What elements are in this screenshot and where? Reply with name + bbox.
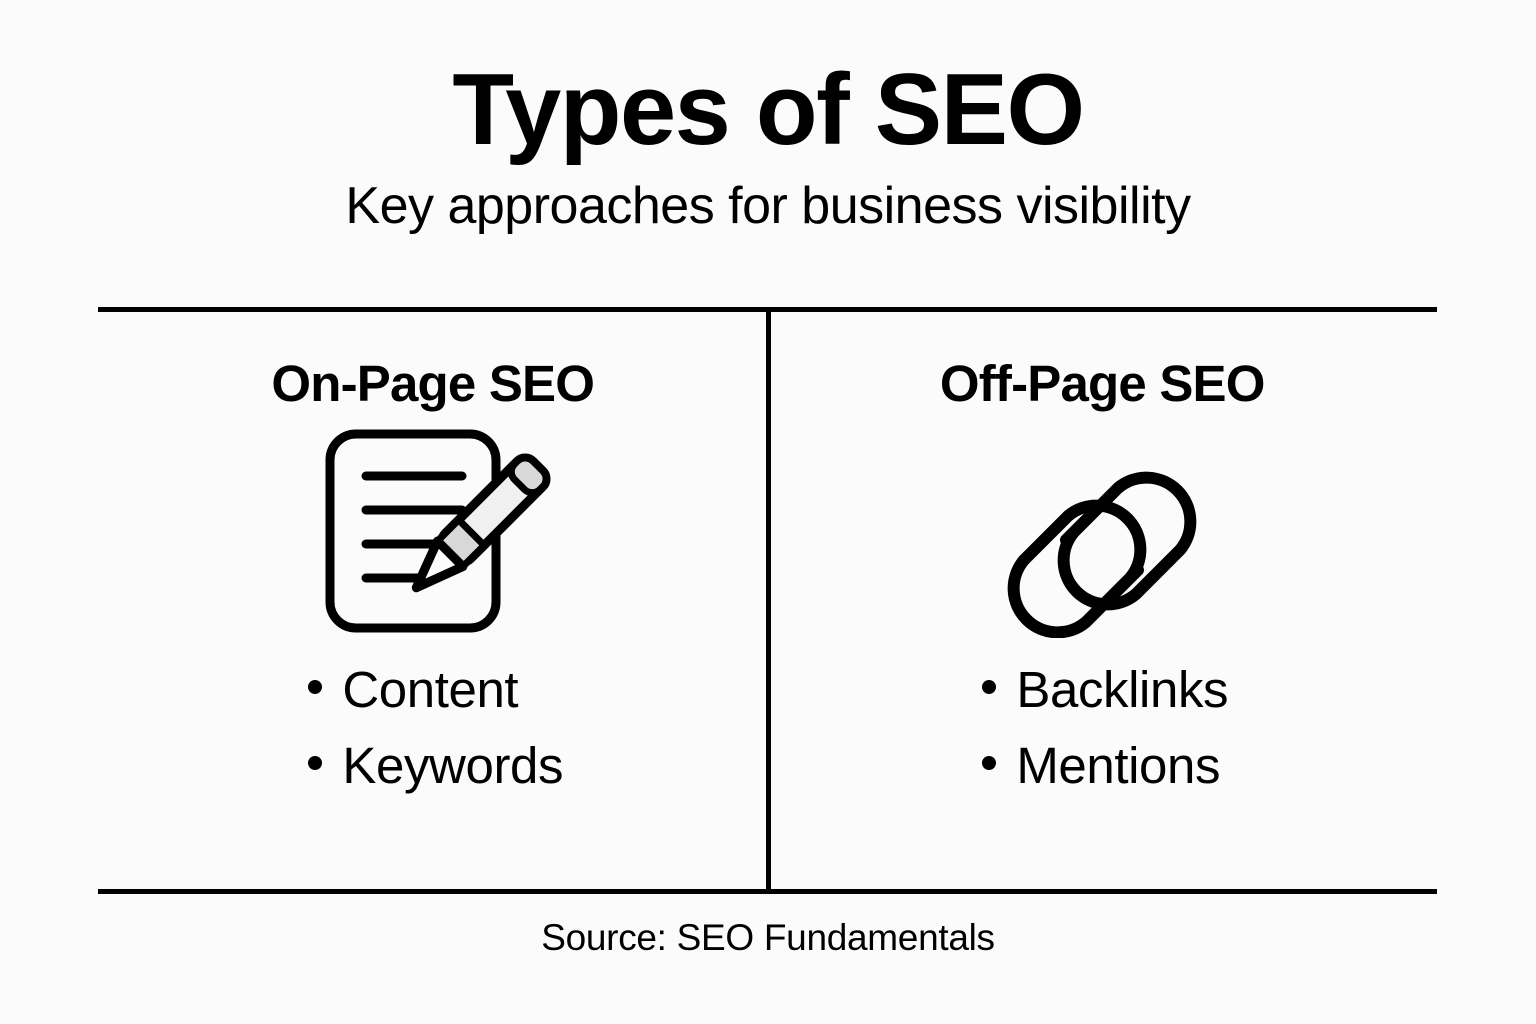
list-item-label: Content — [342, 652, 518, 727]
infographic-canvas: Types of SEO Key approaches for business… — [0, 0, 1536, 1024]
list-on-page-seo: Content Keywords — [302, 652, 563, 803]
bullet-icon — [308, 756, 322, 770]
page-title: Types of SEO — [0, 58, 1536, 162]
list-item-label: Backlinks — [1016, 652, 1228, 727]
page-subtitle: Key approaches for business visibility — [0, 162, 1536, 235]
list-off-page-seo: Backlinks Mentions — [976, 652, 1228, 803]
chain-link-icon — [990, 418, 1214, 644]
document-pencil-icon — [310, 418, 556, 644]
source-caption: Source: SEO Fundamentals — [0, 917, 1536, 959]
column-title-off-page: Off-Page SEO — [940, 312, 1265, 412]
list-item: Content — [308, 652, 563, 727]
list-item: Backlinks — [982, 652, 1228, 727]
bullet-icon — [308, 680, 322, 694]
list-item-label: Keywords — [342, 728, 563, 803]
divider-bottom — [98, 889, 1437, 894]
list-item-label: Mentions — [1016, 728, 1220, 803]
list-item: Keywords — [308, 728, 563, 803]
column-off-page-seo: Off-Page SEO Backlinks — [768, 312, 1438, 890]
column-title-on-page: On-Page SEO — [271, 312, 594, 412]
bullet-icon — [982, 680, 996, 694]
bullet-icon — [982, 756, 996, 770]
column-divider — [766, 310, 771, 890]
header: Types of SEO Key approaches for business… — [0, 58, 1536, 235]
list-item: Mentions — [982, 728, 1228, 803]
column-on-page-seo: On-Page SEO — [98, 312, 768, 890]
